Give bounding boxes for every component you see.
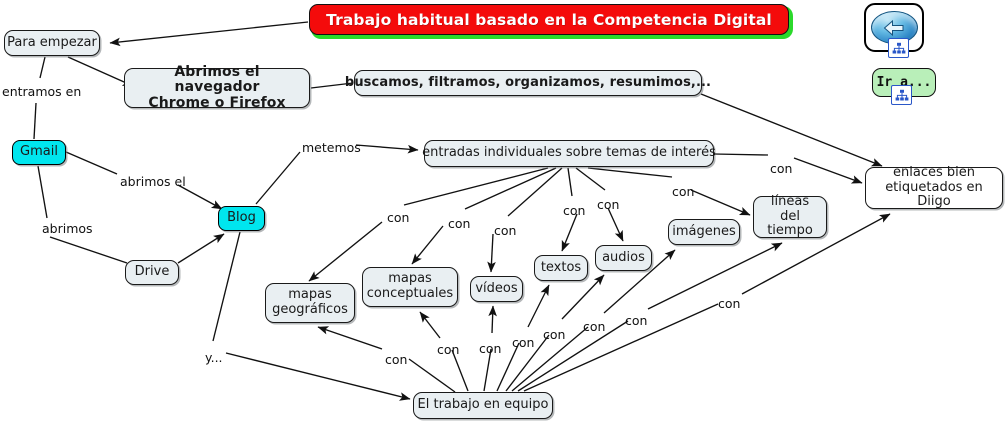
link-label-con-diigo-top: con	[770, 161, 792, 176]
link-label-con-equipo-audios: con	[543, 327, 565, 342]
node-audios[interactable]: audios	[595, 245, 652, 271]
link-label-abrimos: abrimos	[42, 221, 93, 236]
link-label-con-geograficos: con	[387, 210, 409, 225]
node-abrimos-navegador-line2: Chrome o Firefox	[148, 95, 285, 111]
node-drive[interactable]: Drive	[125, 260, 179, 285]
edge-entradas-textos-b	[562, 214, 577, 251]
node-para-empezar[interactable]: Para empezar	[4, 30, 100, 56]
node-gmail[interactable]: Gmail	[12, 140, 66, 165]
node-abrimos-navegador[interactable]: Abrimos el navegador Chrome o Firefox	[124, 68, 310, 108]
node-entradas-individuales[interactable]: entradas individuales sobre temas de int…	[424, 140, 714, 167]
edge-entradas-audios-a	[576, 168, 605, 190]
edge-equipo-audios-b	[562, 275, 604, 319]
edge-entradas-videos-b	[491, 234, 493, 272]
node-enlaces-diigo-line2: etiquetados en Diigo	[885, 180, 983, 210]
edge-para-empezar-to-gmail-a	[40, 57, 45, 78]
link-label-metemos: metemos	[302, 140, 361, 155]
link-label-abrimos-el: abrimos el	[120, 174, 186, 189]
edge-blog-to-entradas-b	[356, 145, 418, 150]
node-buscamos-filtramos[interactable]: buscamos, filtramos, organizamos, resumi…	[354, 70, 702, 96]
edge-blog-to-entradas-a	[256, 152, 300, 204]
node-lineas-del-tiempo-line1: líneas del	[771, 194, 809, 224]
node-mapas-conceptuales-line2: conceptuales	[367, 286, 453, 301]
node-mapas-geograficos-line2: geográficos	[272, 302, 348, 317]
edge-entradas-conc-a	[465, 168, 556, 209]
link-label-con-equipo-imagenes: con	[583, 319, 605, 334]
edge-equipo-textos-b	[528, 285, 549, 327]
link-label-con-equipo-conceptuales: con	[437, 342, 459, 357]
edge-equipo-geo-b	[318, 327, 382, 349]
edge-gmail-to-drive-a	[38, 166, 47, 218]
node-mapas-conceptuales[interactable]: mapas conceptuales	[362, 267, 458, 307]
edge-entradas-imagenes-a	[588, 168, 672, 177]
edge-equipo-lineas-a	[518, 321, 628, 391]
edge-gmail-to-blog-a	[66, 152, 117, 174]
goto-map-badge-icon[interactable]	[891, 85, 912, 105]
node-abrimos-navegador-line1: Abrimos el navegador	[174, 64, 259, 96]
node-imagenes[interactable]: imágenes	[668, 219, 740, 245]
map-title: Trabajo habitual basado en la Competenci…	[309, 4, 789, 35]
edge-equipo-conc-b	[420, 312, 440, 338]
edge-equipo-diigo-a	[524, 304, 718, 391]
edge-entradas-geo-a	[404, 168, 548, 205]
edge-gmail-to-drive-b	[50, 237, 127, 263]
node-enlaces-diigo-line1: enlaces bien	[893, 165, 975, 180]
link-label-con-textos: con	[563, 203, 585, 218]
link-label-con-equipo-lineas: con	[625, 313, 647, 328]
link-label-con-videos: con	[494, 223, 516, 238]
node-mapas-geograficos[interactable]: mapas geográficos	[265, 283, 355, 323]
edge-entradas-diigo-a	[714, 154, 768, 155]
edge-buscamos-to-diigo	[701, 94, 882, 166]
edge-equipo-videos-b	[492, 306, 493, 333]
link-label-entramos-en: entramos en	[2, 84, 81, 99]
link-label-con-imagenes: con	[672, 184, 694, 199]
node-lineas-del-tiempo-line2: tiempo	[767, 223, 813, 238]
node-trabajo-en-equipo[interactable]: El trabajo en equipo	[413, 392, 553, 419]
link-label-con-conceptuales: con	[448, 216, 470, 231]
edge-para-empezar-to-gmail-b	[34, 103, 36, 139]
node-videos[interactable]: vídeos	[470, 276, 523, 302]
concept-map-canvas: Trabajo habitual basado en la Competenci…	[0, 0, 1006, 423]
edge-entradas-conc-b	[412, 226, 443, 264]
link-label-con-equipo-videos: con	[479, 341, 501, 356]
link-label-con-audios: con	[597, 197, 619, 212]
node-mapas-conceptuales-line1: mapas	[388, 271, 432, 286]
edge-entradas-diigo-b	[794, 158, 862, 183]
edge-drive-to-blog	[178, 234, 224, 263]
edge-blog-to-equipo-b	[226, 353, 410, 399]
hierarchy-icon	[892, 42, 906, 55]
edge-title-to-para-empezar	[110, 22, 308, 43]
edge-equipo-lineas-b	[648, 243, 782, 309]
edge-entradas-videos-a	[508, 168, 562, 216]
back-button-map-badge-icon[interactable]	[888, 38, 909, 58]
edge-entradas-imagenes-b	[691, 190, 750, 215]
edge-layer	[0, 0, 1006, 423]
hierarchy-icon	[895, 89, 909, 102]
node-mapas-geograficos-line1: mapas	[288, 287, 332, 302]
node-textos[interactable]: textos	[534, 255, 588, 281]
node-lineas-del-tiempo[interactable]: líneas del tiempo	[753, 196, 827, 238]
edge-blog-to-equipo-a	[213, 232, 240, 341]
edge-equipo-geo-a	[409, 359, 455, 392]
arrow-left-icon	[882, 18, 906, 38]
node-enlaces-diigo[interactable]: enlaces bien etiquetados en Diigo	[865, 167, 1003, 209]
edge-entradas-audios-b	[608, 208, 623, 241]
link-label-y-puntos: y...	[205, 350, 223, 365]
node-blog[interactable]: Blog	[218, 206, 265, 231]
link-label-con-equipo-geograficos: con	[385, 352, 407, 367]
link-label-con-equipo-diigo: con	[718, 296, 740, 311]
edge-entradas-textos-a	[568, 168, 572, 196]
link-label-con-equipo-textos: con	[512, 335, 534, 350]
